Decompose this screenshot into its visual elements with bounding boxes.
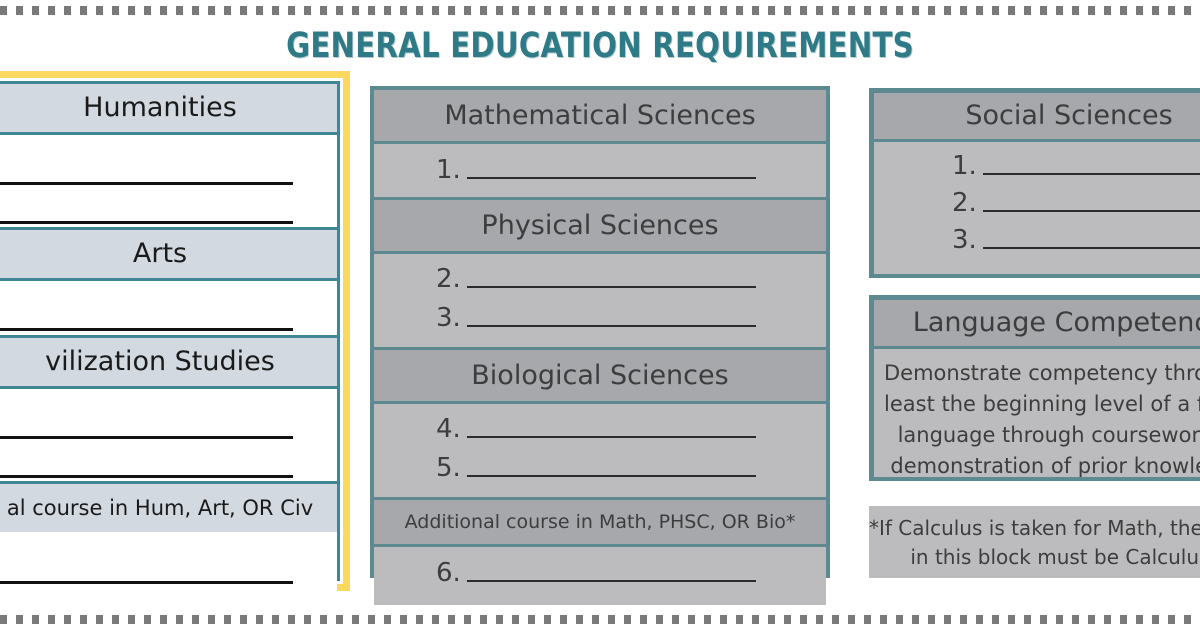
page-title: GENERAL EDUCATION REQUIREMENTS — [42, 26, 1158, 66]
social-sciences-table: Social Sciences 1. 2. 3. — [869, 88, 1200, 278]
blank-line[interactable] — [467, 580, 756, 582]
numbered-blank-4[interactable]: 4. — [436, 416, 756, 442]
bottom-dotted-divider — [0, 615, 1200, 624]
section-body-biological-sciences[interactable]: 4. 5. — [374, 404, 826, 500]
numbered-blank-1[interactable]: 1. — [436, 157, 756, 183]
blank-line[interactable] — [0, 475, 293, 478]
section-additional-course: al course in Hum, Art, OR Civ — [0, 484, 337, 596]
calculus-footnote: *If Calculus is taken for Math, the cour… — [869, 506, 1200, 578]
item-number: 6. — [436, 560, 461, 586]
blank-line[interactable] — [467, 325, 756, 327]
language-competency-table: Language Competency Demonstrate competen… — [869, 295, 1200, 481]
left-column-highlight: Humanities Arts vilization Studies — [0, 71, 350, 591]
item-number: 2. — [952, 190, 977, 216]
section-header-humanities: Humanities — [0, 84, 337, 135]
section-body-humanities[interactable] — [0, 135, 337, 230]
item-number: 4. — [436, 416, 461, 442]
blank-line[interactable] — [0, 182, 293, 185]
blank-line[interactable] — [983, 173, 1200, 175]
section-body-mathematical-sciences[interactable]: 1. — [374, 144, 826, 200]
section-header-civilization-studies: vilization Studies — [0, 338, 337, 389]
blank-line[interactable] — [0, 221, 293, 224]
section-physical-sciences: Physical Sciences 2. 3. — [374, 200, 826, 350]
section-mathematical-sciences: Mathematical Sciences 1. — [374, 90, 826, 200]
section-header-mathematical-sciences: Mathematical Sciences — [374, 90, 826, 144]
section-body-arts[interactable] — [0, 281, 337, 338]
section-header-physical-sciences: Physical Sciences — [374, 200, 826, 254]
section-body-language-competency: Demonstrate competency through at least … — [874, 349, 1200, 477]
numbered-blank-2[interactable]: 2. — [436, 266, 756, 292]
blank-line[interactable] — [983, 210, 1200, 212]
blank-line[interactable] — [0, 436, 293, 439]
blank-line[interactable] — [983, 247, 1200, 249]
blank-line[interactable] — [467, 286, 756, 288]
section-header-language-competency: Language Competency — [874, 300, 1200, 349]
language-competency-line-1: Demonstrate competency through at — [884, 358, 1200, 389]
section-body-additional-science-course[interactable]: 6. — [374, 547, 826, 605]
section-header-arts: Arts — [0, 230, 337, 281]
language-competency-line-4: demonstration of prior knowledge — [884, 451, 1200, 477]
item-number: 1. — [436, 157, 461, 183]
blank-line[interactable] — [0, 581, 293, 584]
section-header-biological-sciences: Biological Sciences — [374, 350, 826, 404]
numbered-blank-3[interactable]: 3. — [436, 305, 756, 331]
item-number: 1. — [952, 153, 977, 179]
calculus-footnote-line-1: *If Calculus is taken for Math, the cour… — [869, 514, 1200, 543]
numbered-blank-1[interactable]: 1. — [952, 153, 1200, 179]
blank-line[interactable] — [467, 177, 756, 179]
numbered-blank-3[interactable]: 3. — [952, 227, 1200, 253]
sciences-table: Mathematical Sciences 1. Physical Scienc… — [370, 86, 830, 578]
language-competency-line-2: least the beginning level of a foreign — [884, 389, 1200, 420]
blank-line[interactable] — [467, 436, 756, 438]
left-column-inner: Humanities Arts vilization Studies — [0, 78, 343, 584]
item-number: 3. — [952, 227, 977, 253]
numbered-blank-6[interactable]: 6. — [436, 560, 756, 586]
section-biological-sciences: Biological Sciences 4. 5. — [374, 350, 826, 500]
section-humanities: Humanities — [0, 84, 337, 230]
section-arts: Arts — [0, 230, 337, 338]
blank-line[interactable] — [0, 328, 293, 331]
section-body-social-sciences[interactable]: 1. 2. 3. — [874, 142, 1200, 274]
section-header-additional-course: al course in Hum, Art, OR Civ — [0, 484, 337, 532]
item-number: 5. — [436, 455, 461, 481]
section-civilization-studies: vilization Studies — [0, 338, 337, 484]
section-body-physical-sciences[interactable]: 2. 3. — [374, 254, 826, 350]
language-competency-text: Demonstrate competency through at least … — [874, 349, 1200, 477]
language-competency-line-3: language through coursework or — [884, 420, 1200, 451]
numbered-blank-2[interactable]: 2. — [952, 190, 1200, 216]
section-header-social-sciences: Social Sciences — [874, 93, 1200, 142]
top-dotted-divider — [0, 6, 1200, 15]
calculus-footnote-line-2: in this block must be Calculus II — [869, 543, 1200, 572]
section-header-additional-science-course: Additional course in Math, PHSC, OR Bio* — [374, 500, 826, 547]
blank-line[interactable] — [467, 475, 756, 477]
item-number: 2. — [436, 266, 461, 292]
section-body-additional-course[interactable] — [0, 532, 337, 596]
numbered-blank-5[interactable]: 5. — [436, 455, 756, 481]
section-additional-science-course: Additional course in Math, PHSC, OR Bio*… — [374, 500, 826, 605]
item-number: 3. — [436, 305, 461, 331]
humanities-table: Humanities Arts vilization Studies — [0, 81, 340, 581]
section-body-civilization-studies[interactable] — [0, 389, 337, 484]
